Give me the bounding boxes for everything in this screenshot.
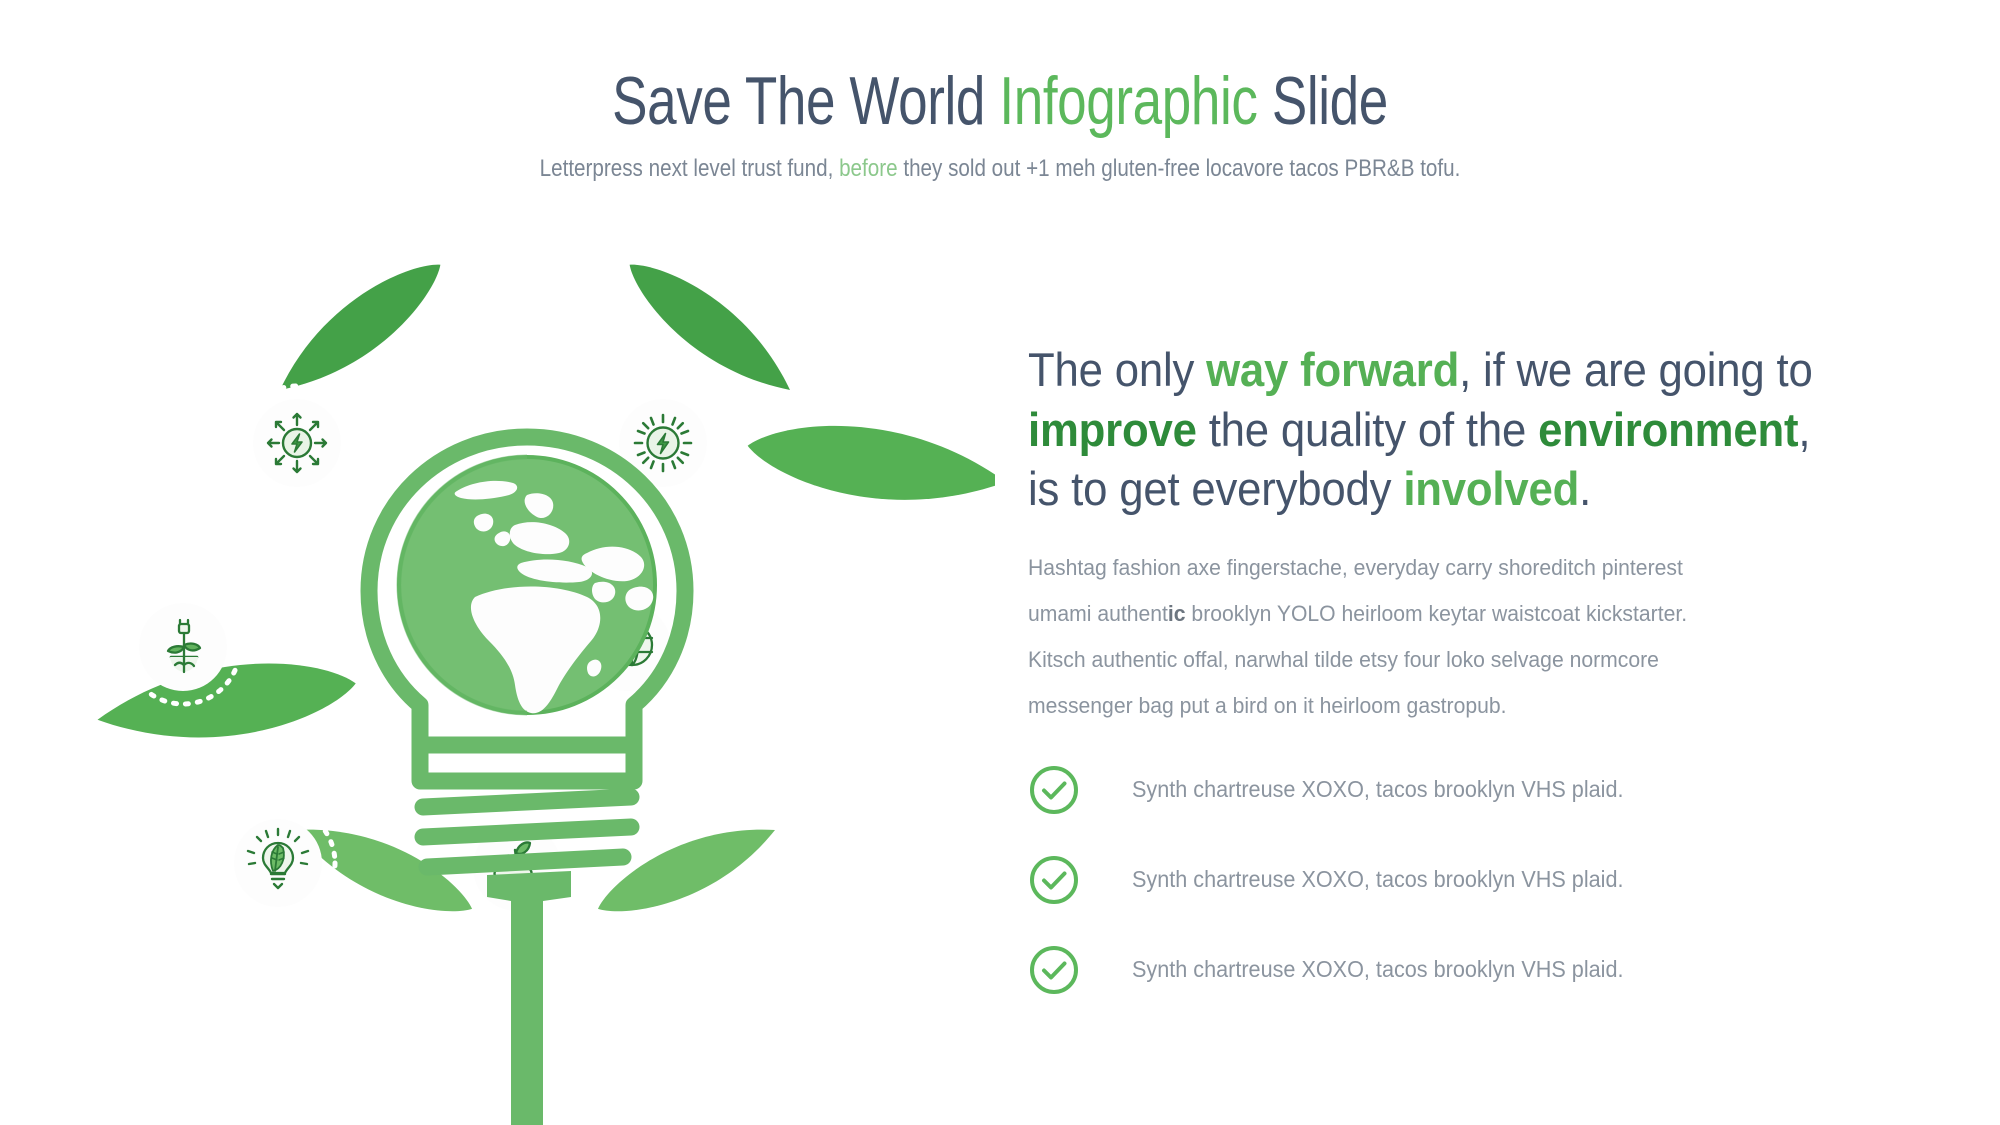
slide-root: Save The World Infographic Slide Letterp… [0,0,2000,1125]
check-circle-icon [1028,944,1080,996]
check-circle-icon [1028,764,1080,816]
list-item-label: Synth chartreuse XOXO, tacos brooklyn VH… [1132,956,1623,983]
leaf-badge-bottom-left [221,806,335,920]
title-part2: Slide [1258,63,1388,139]
paragraph-line-2a: umami authent [1028,601,1168,626]
check-circle-icon [1028,854,1080,906]
globe-icon [399,457,655,713]
content-panel: The only way forward, if we are going to… [1028,340,1888,1034]
leaf-middle-right [743,412,995,517]
list-item[interactable]: Synth chartreuse XOXO, tacos brooklyn VH… [1028,944,1888,996]
leaf-middle-left [93,649,361,754]
list-item[interactable]: Synth chartreuse XOXO, tacos brooklyn VH… [1028,764,1888,816]
headline-seg9: . [1579,462,1591,515]
headline-seg1: The only [1028,343,1206,396]
headline-improve: improve [1028,403,1197,456]
lightbulb-plant-infographic [75,185,995,1125]
headline-environment: environment [1538,403,1798,456]
headline-involved: involved [1403,462,1579,515]
page-title: Save The World Infographic Slide [220,66,1780,137]
headline-way-forward: way forward [1206,343,1459,396]
title-part1: Save The World [612,63,999,139]
paragraph-line-1: Hashtag fashion axe fingerstache, everyd… [1028,555,1683,580]
subtitle-part1: Letterpress next level trust fund, [540,155,839,182]
paragraph-line-3: Kitsch authentic offal, narwhal tilde et… [1028,647,1659,672]
subtitle-accent: before [839,155,898,182]
page-subtitle: Letterpress next level trust fund, befor… [140,155,1860,183]
paragraph-line-2-bold: ic [1168,601,1186,626]
list-item-label: Synth chartreuse XOXO, tacos brooklyn VH… [1132,776,1623,803]
headline-seg5: the quality of the [1197,403,1538,456]
title-accent: Infographic [999,63,1257,139]
list-item[interactable]: Synth chartreuse XOXO, tacos brooklyn VH… [1028,854,1888,906]
headline: The only way forward, if we are going to… [1028,340,1828,519]
lightbulb-stem [487,871,571,1125]
slide-header: Save The World Infographic Slide Letterp… [0,0,2000,183]
feature-check-list: Synth chartreuse XOXO, tacos brooklyn VH… [1028,764,1888,996]
leaf-badge-top-left [240,386,354,500]
leaf-badge-top-right [606,386,720,500]
list-item-label: Synth chartreuse XOXO, tacos brooklyn VH… [1132,866,1623,893]
leaf-top-right [614,245,806,410]
paragraph-line-4: messenger bag put a bird on it heirloom … [1028,693,1507,718]
headline-seg3: , if we are going to [1459,343,1812,396]
body-paragraph: Hashtag fashion axe fingerstache, everyd… [1028,545,1742,730]
subtitle-part2: they sold out +1 meh gluten-free locavor… [898,155,1461,182]
paragraph-line-2b: brooklyn YOLO heirloom keytar waistcoat … [1186,601,1688,626]
energy-distribution-icon [268,414,326,472]
